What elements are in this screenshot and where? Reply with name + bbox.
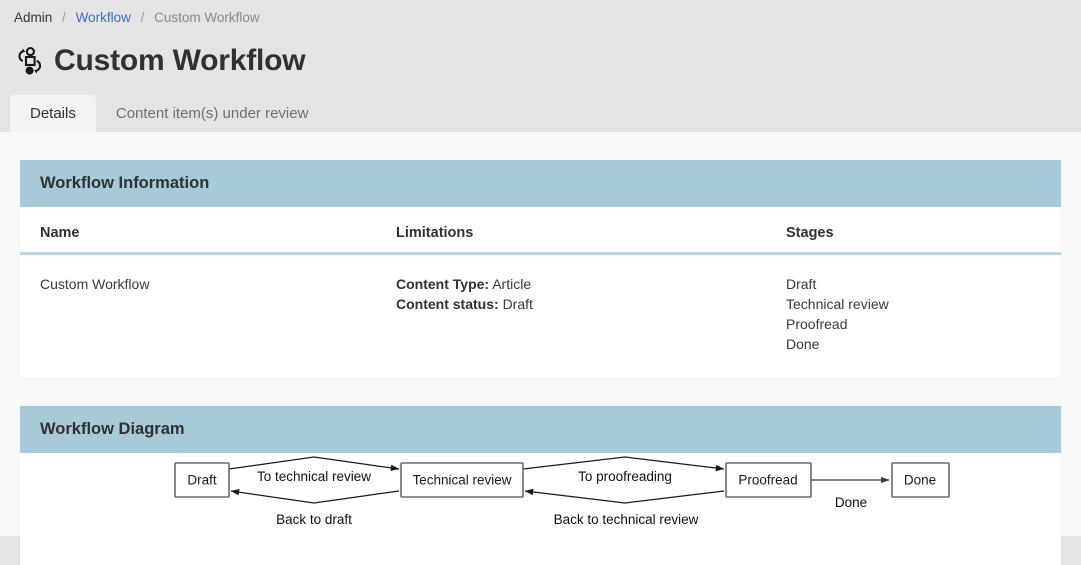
breadcrumb: Admin / Workflow / Custom Workflow — [0, 0, 1081, 26]
column-header-limitations: Limitations — [396, 207, 786, 254]
edge-draft-to-technical — [229, 457, 399, 469]
edge-proofread-to-technical — [525, 491, 724, 503]
breadcrumb-current: Custom Workflow — [154, 10, 260, 25]
content-area: Workflow Information Name Limitations St… — [0, 132, 1081, 536]
stage-item: Proofread — [786, 314, 1061, 334]
stage-item: Done — [786, 334, 1061, 354]
page-title-row: Custom Workflow — [0, 26, 1081, 82]
table-row: Custom Workflow Content Type: Article Co… — [20, 254, 1061, 379]
edge-technical-to-draft — [231, 491, 399, 503]
workflow-information-card: Workflow Information Name Limitations St… — [20, 160, 1061, 378]
limitation-content-type-value: Article — [492, 276, 531, 292]
cell-limitations: Content Type: Article Content status: Dr… — [396, 254, 786, 379]
limitation-content-status-value: Draft — [503, 296, 533, 312]
spacer-middle — [0, 378, 1081, 406]
node-label-done: Done — [904, 473, 936, 488]
tab-details[interactable]: Details — [10, 95, 96, 132]
tab-content-items-under-review[interactable]: Content item(s) under review — [96, 95, 329, 132]
spacer-top — [0, 132, 1081, 160]
breadcrumb-link-workflow[interactable]: Workflow — [76, 10, 131, 25]
edge-label-to-technical-review: To technical review — [257, 469, 371, 484]
page-title: Custom Workflow — [54, 44, 305, 78]
limitation-content-type-key: Content Type: — [396, 276, 489, 292]
edge-label-back-to-draft: Back to draft — [276, 512, 352, 527]
limitation-content-type: Content Type: Article — [396, 274, 786, 294]
column-header-stages: Stages — [786, 207, 1061, 254]
workflow-diagram-svg: Draft Technical review Proofread Done To… — [20, 453, 1061, 565]
stage-item: Technical review — [786, 294, 1061, 314]
node-technical-review[interactable]: Technical review — [401, 463, 523, 497]
node-label-technical-review: Technical review — [412, 473, 511, 488]
breadcrumb-separator-2: / — [141, 10, 145, 25]
stage-item: Draft — [786, 274, 1061, 294]
limitation-content-status-key: Content status: — [396, 296, 499, 312]
workflow-information-table: Name Limitations Stages Custom Workflow … — [20, 207, 1061, 378]
workflow-information-header: Workflow Information — [20, 160, 1061, 207]
edge-label-done: Done — [835, 495, 867, 510]
breadcrumb-separator-1: / — [62, 10, 66, 25]
cell-stages: Draft Technical review Proofread Done — [786, 254, 1061, 379]
workflow-icon — [12, 44, 46, 78]
breadcrumb-root[interactable]: Admin — [14, 10, 52, 25]
table-header-row: Name Limitations Stages — [20, 207, 1061, 254]
workflow-diagram-body: Draft Technical review Proofread Done To… — [20, 453, 1061, 565]
edge-technical-to-proofread — [523, 457, 724, 469]
cell-name: Custom Workflow — [20, 254, 396, 379]
tab-bar: Details Content item(s) under review — [0, 95, 1081, 132]
node-label-draft: Draft — [187, 473, 217, 488]
edge-label-back-to-technical-review: Back to technical review — [554, 512, 699, 527]
edge-label-to-proofreading: To proofreading — [578, 469, 672, 484]
limitation-content-status: Content status: Draft — [396, 294, 786, 314]
node-draft[interactable]: Draft — [175, 463, 229, 497]
workflow-diagram-card: Workflow Diagram — [20, 406, 1061, 565]
node-proofread[interactable]: Proofread — [726, 463, 811, 497]
workflow-diagram-header: Workflow Diagram — [20, 406, 1061, 453]
node-done[interactable]: Done — [892, 463, 949, 497]
node-label-proofread: Proofread — [738, 473, 797, 488]
column-header-name: Name — [20, 207, 396, 254]
